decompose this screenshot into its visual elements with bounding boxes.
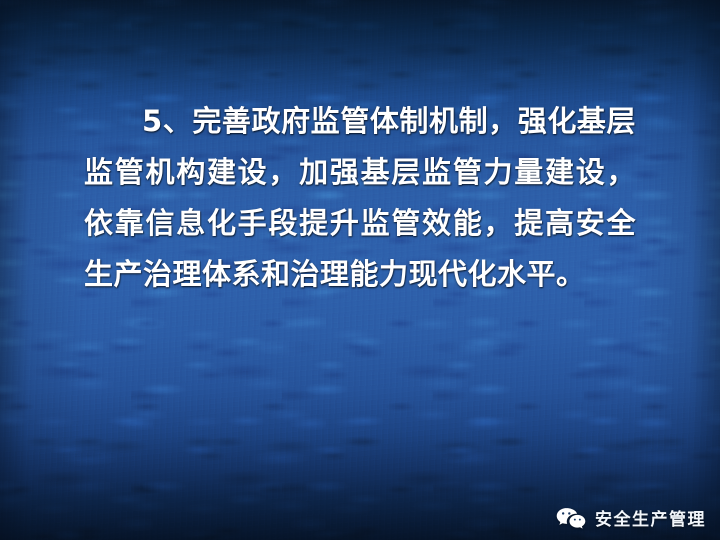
slide-canvas: 5、完善政府监管体制机制，强化基层监管机构建设，加强基层监管力量建设，依靠信息化… <box>0 0 720 540</box>
slide-body-text: 5、完善政府监管体制机制，强化基层监管机构建设，加强基层监管力量建设，依靠信息化… <box>84 96 636 300</box>
watermark-label: 安全生产管理 <box>595 505 706 530</box>
wechat-icon <box>556 507 586 529</box>
watermark: 安全生产管理 <box>556 505 706 530</box>
